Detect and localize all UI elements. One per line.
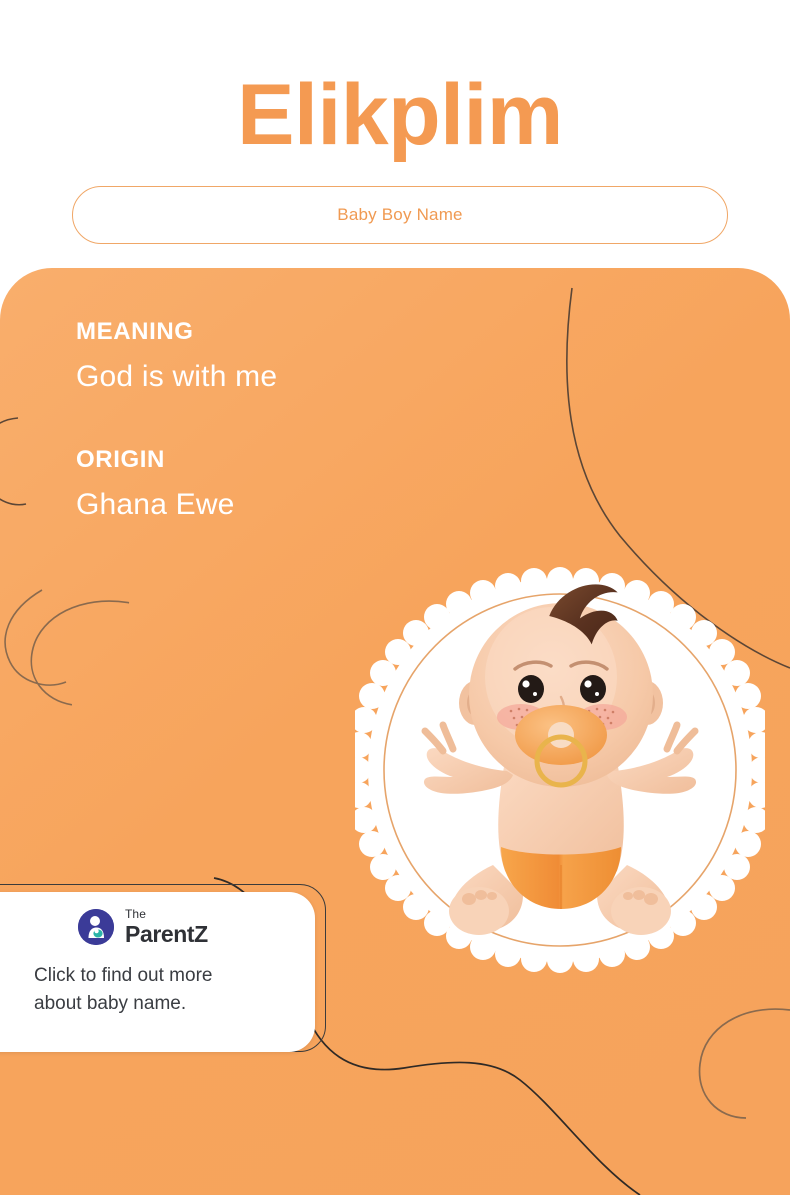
origin-label: ORIGIN (76, 446, 506, 474)
brand-cta-text: Click to find out more about baby name. (34, 962, 284, 1017)
page-title: Elikplim (0, 70, 800, 160)
meaning-value: God is with me (76, 360, 506, 394)
brand-the-label: The (125, 908, 208, 920)
meaning-label: MEANING (76, 318, 506, 346)
bottom-strip (0, 1195, 800, 1200)
origin-value: Ghana Ewe (76, 488, 506, 522)
baby-name-poster: Elikplim Baby Boy Name MEANING (0, 0, 800, 1200)
brand-name-label: ParentZ (125, 923, 208, 946)
spacer (76, 394, 506, 446)
baby-gender-label: Baby Boy Name (337, 205, 462, 225)
baby-illustration (355, 565, 765, 975)
parentz-logo-icon (78, 909, 114, 945)
brand-wordmark: The ParentZ (125, 908, 208, 946)
brand-cta-line1: Click to find out more (34, 962, 284, 990)
brand-cta-line2: about baby name. (34, 990, 284, 1018)
brand-lockup: The ParentZ (78, 908, 208, 946)
baby-gender-pill: Baby Boy Name (72, 186, 728, 244)
name-details: MEANING God is with me ORIGIN Ghana Ewe (76, 318, 506, 522)
brand-card[interactable]: The ParentZ Click to find out more about… (0, 892, 315, 1052)
